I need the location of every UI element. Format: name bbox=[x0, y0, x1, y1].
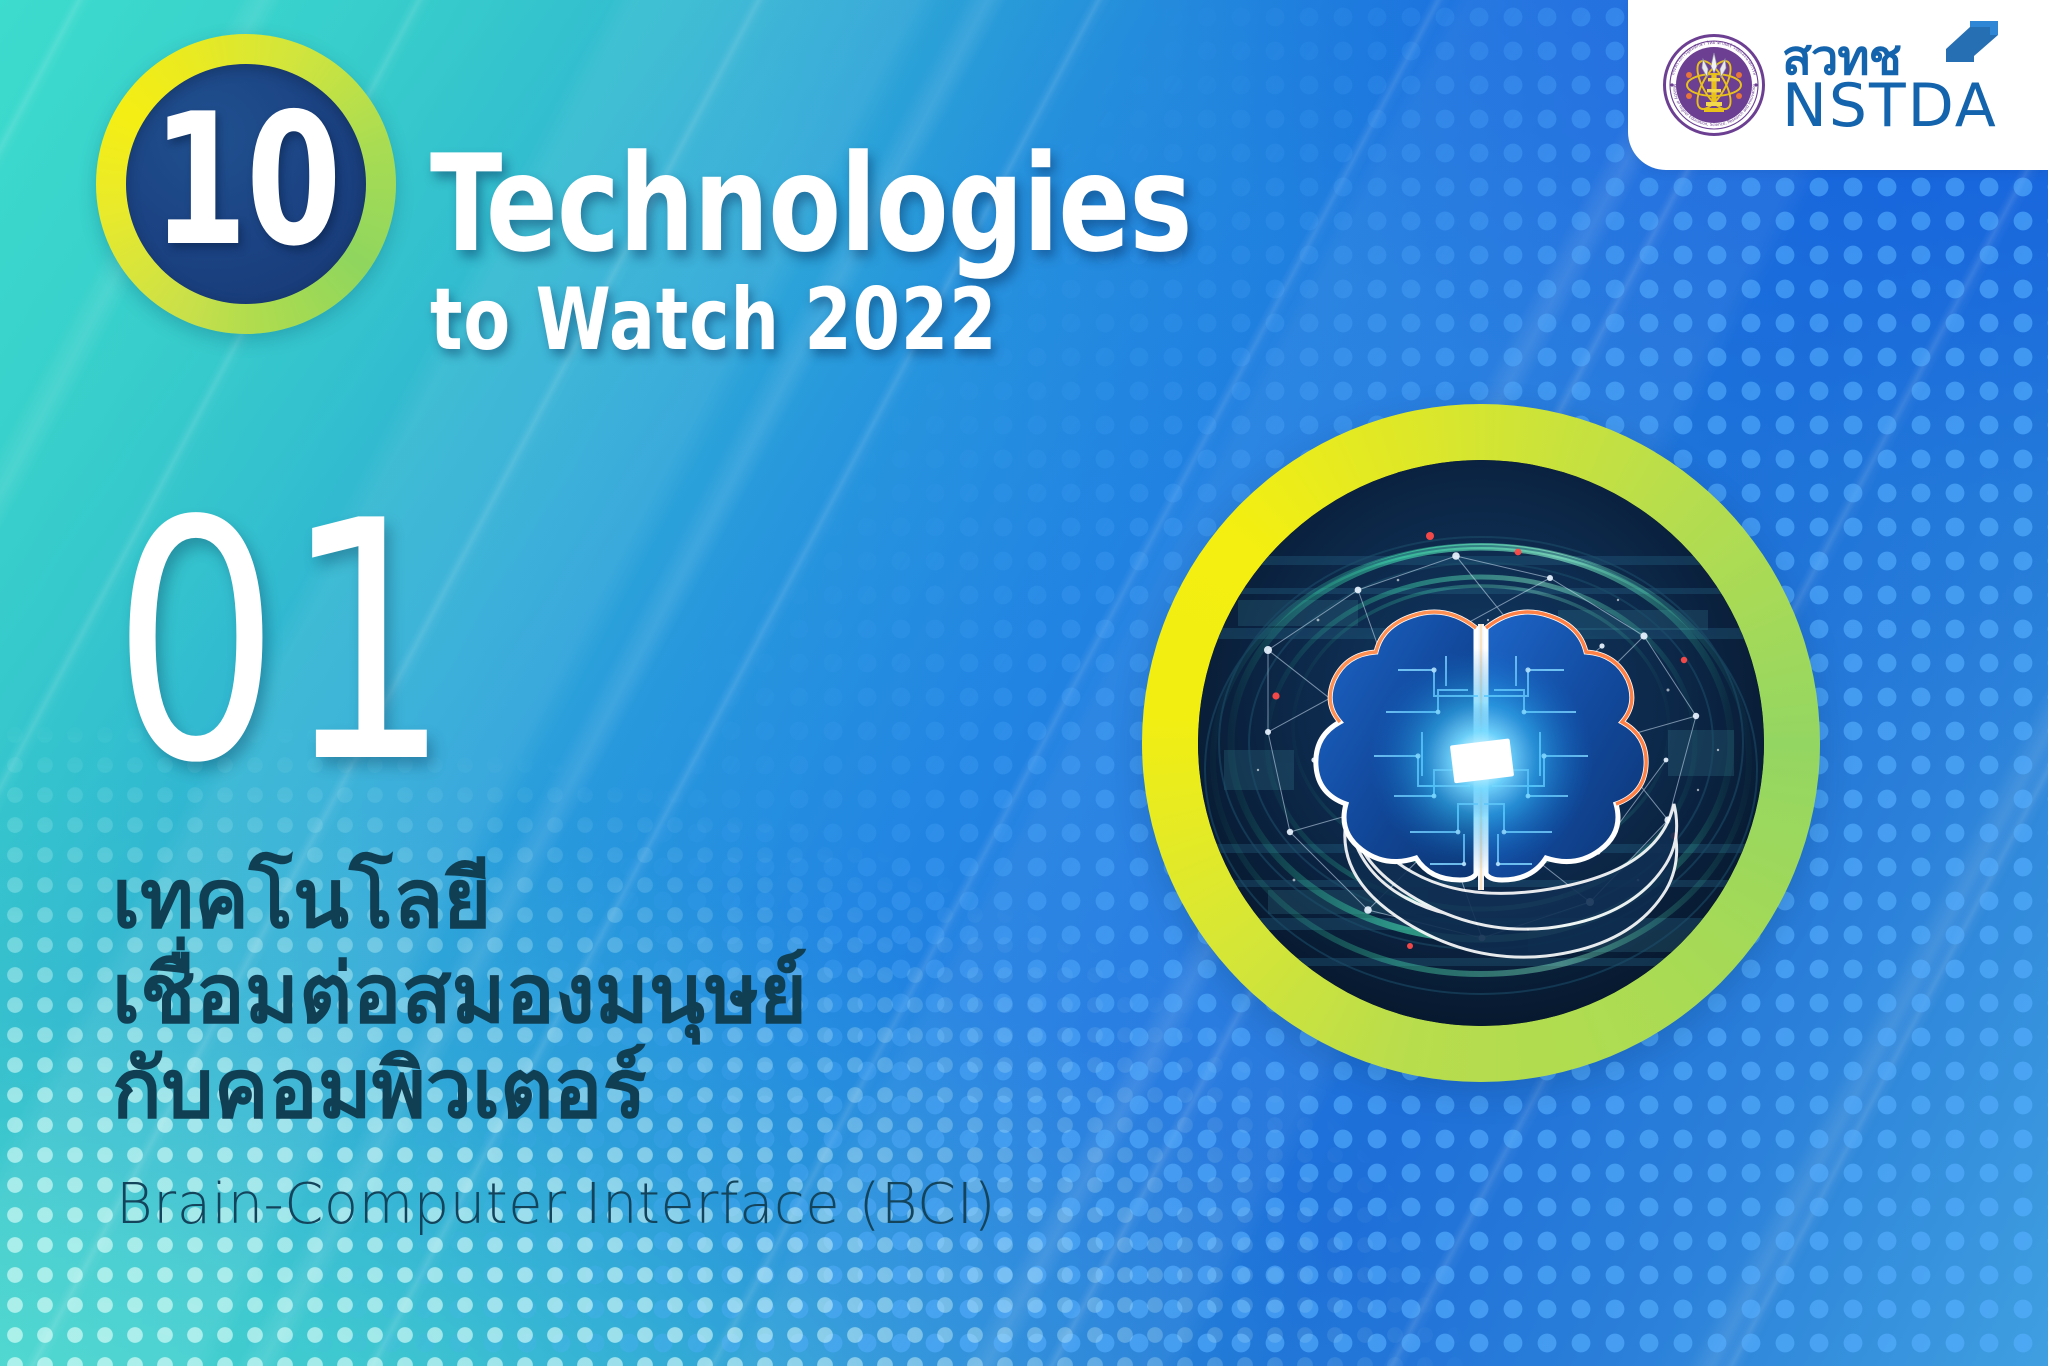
thai-title-line-1: เทคโนโลยี bbox=[112, 852, 807, 947]
poster-canvas: 10 Technologies to Watch 2022 01 เทคโนโล… bbox=[0, 0, 2048, 1366]
nstda-logo: สวทช NSTDA bbox=[1782, 34, 1998, 136]
brain-sphere-disc bbox=[1198, 460, 1764, 1026]
thai-title-line-3: กับคอมพิวเตอร์ bbox=[112, 1042, 807, 1137]
thai-title-block: เทคโนโลยี เชื่อมต่อสมองมนุษย์ กับคอมพิวเ… bbox=[112, 852, 807, 1137]
thai-title-line-2: เชื่อมต่อสมองมนุษย์ bbox=[112, 947, 807, 1042]
nstda-check-mark-icon bbox=[1940, 18, 2002, 72]
item-number-label: 01 bbox=[112, 478, 454, 808]
nstda-thai-acronym: สวทช bbox=[1782, 34, 1901, 82]
logo-card: กระทรวงการอุดมศึกษา วิทยาศาสตร์ วิจัยและ… bbox=[1628, 0, 2048, 170]
headline-secondary: to Watch 2022 bbox=[430, 277, 1192, 363]
brain-sphere-artwork bbox=[1142, 404, 1820, 1082]
series-number-label: 10 bbox=[152, 89, 340, 271]
series-number-badge: 10 bbox=[96, 34, 396, 334]
headline-block: Technologies to Watch 2022 bbox=[430, 140, 1295, 363]
ministry-seal-icon: กระทรวงการอุดมศึกษา วิทยาศาสตร์ วิจัยและ… bbox=[1662, 33, 1766, 137]
headline-primary: Technologies bbox=[430, 140, 1192, 269]
english-subtitle: Brain-Computer Interface (BCI) bbox=[116, 1172, 996, 1237]
badge-inner-circle: 10 bbox=[126, 64, 366, 304]
